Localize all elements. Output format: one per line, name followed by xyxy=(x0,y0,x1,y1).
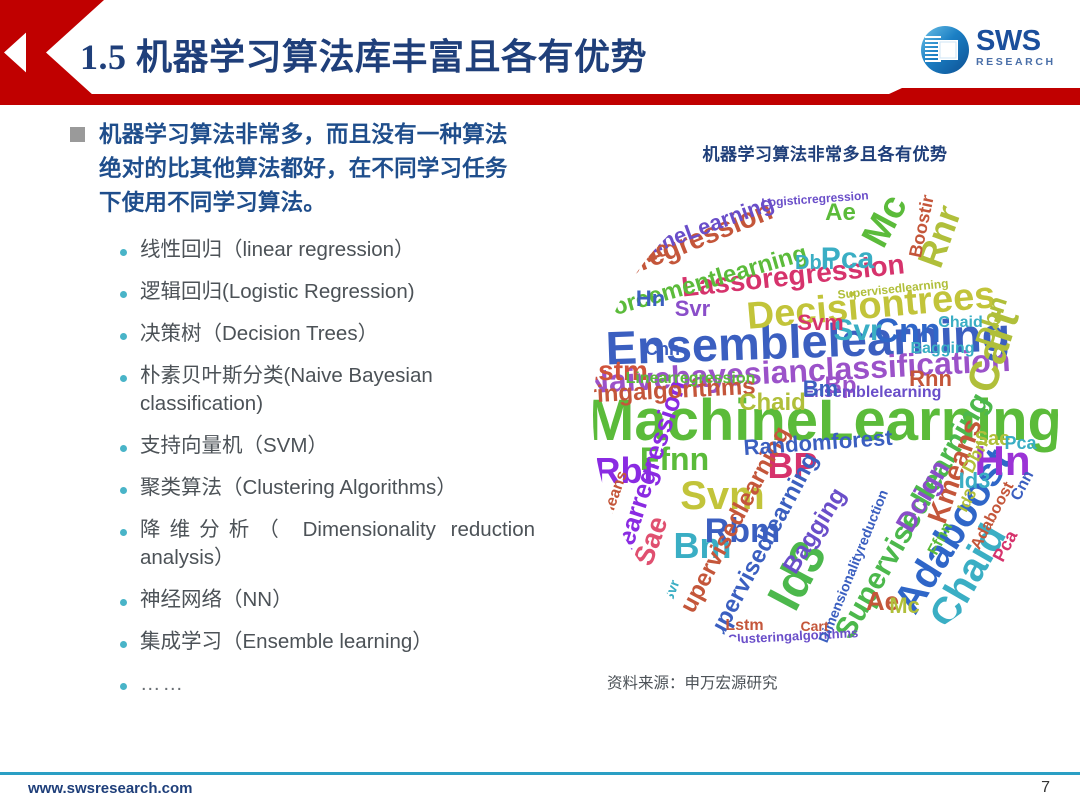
left-content-column: 机器学习算法非常多，而且没有一种算法绝对的比其他算法都好，在不同学习任务下使用不… xyxy=(70,118,570,712)
list-item: …… xyxy=(120,670,570,698)
list-item-label: 神经网络（NN） xyxy=(140,586,535,614)
wordcloud-word: Bagging xyxy=(911,341,975,357)
sws-circle-logo-icon xyxy=(920,25,970,75)
wordcloud-word: Hn xyxy=(636,288,665,310)
right-figure-column: 机器学习算法非常多且各有优势 MachineLearningEnsemblele… xyxy=(585,140,1065,693)
wordcloud-word: Svr xyxy=(675,298,710,320)
bullet-dot-icon xyxy=(120,683,127,690)
list-item: 聚类算法（Clustering Algorithms） xyxy=(120,474,570,502)
logo-wordmark: SWS RESEARCH xyxy=(976,26,1056,68)
bullet-dot-icon xyxy=(120,375,127,382)
list-item: 神经网络（NN） xyxy=(120,586,570,614)
page-number: 7 xyxy=(1041,779,1050,797)
wordcloud-word: Mc xyxy=(889,595,920,617)
list-item-label: 聚类算法（Clustering Algorithms） xyxy=(140,474,535,502)
bullet-dot-icon xyxy=(120,445,127,452)
figure-title: 机器学习算法非常多且各有优势 xyxy=(585,140,1065,165)
slide-header: 1.5 机器学习算法库丰富且各有优势 xyxy=(0,0,1080,108)
wordcloud-word: Lstm xyxy=(725,618,763,634)
lead-paragraph-row: 机器学习算法非常多，而且没有一种算法绝对的比其他算法都好，在不同学习任务下使用不… xyxy=(70,118,570,220)
wordcloud-word: Svm xyxy=(797,312,843,334)
list-item: 朴素贝叶斯分类(Naive Bayesian classification) xyxy=(120,362,570,418)
wordcloud-word: Cnn xyxy=(645,340,680,358)
wordcloud-word: Pca xyxy=(1004,434,1036,452)
header-red-bar xyxy=(64,88,1080,105)
list-item-label: 线性回归（linear regression） xyxy=(140,236,535,264)
bullet-dot-icon xyxy=(120,333,127,340)
list-item: 支持向量机（SVM） xyxy=(120,432,570,460)
wordcloud-word: Linearregression xyxy=(626,371,756,387)
wordcloud-canvas: MachineLearningEnsemblelearningNaivebaye… xyxy=(593,171,1058,659)
bullet-dot-icon xyxy=(120,487,127,494)
list-item-label: 降维分析（ Dimensionality reduction analysis） xyxy=(140,516,535,572)
bullet-dot-icon xyxy=(120,529,127,536)
wordcloud-word: Chaid xyxy=(938,315,982,331)
list-item-label: 朴素贝叶斯分类(Naive Bayesian classification) xyxy=(140,362,535,418)
page-title: 1.5 机器学习算法库丰富且各有优势 xyxy=(80,28,647,80)
logo-subtitle: RESEARCH xyxy=(976,56,1056,68)
list-item: 线性回归（linear regression） xyxy=(120,236,570,264)
square-bullet-icon xyxy=(70,127,85,142)
bullet-dot-icon xyxy=(120,249,127,256)
footer-divider xyxy=(0,772,1080,775)
list-item-label: 集成学习（Ensemble learning） xyxy=(140,628,535,656)
list-item-label: 逻辑回归(Logistic Regression) xyxy=(140,278,535,306)
bullet-dot-icon xyxy=(120,641,127,648)
wordcloud-word: Bm xyxy=(803,378,838,400)
list-item: 降维分析（ Dimensionality reduction analysis） xyxy=(120,516,570,572)
list-item-label: …… xyxy=(140,670,535,698)
list-item-label: 决策树（Decision Trees） xyxy=(140,320,535,348)
wordcloud-word: Cart xyxy=(800,619,828,633)
list-item: 集成学习（Ensemble learning） xyxy=(120,628,570,656)
wordcloud-figure: MachineLearningEnsemblelearningNaivebaye… xyxy=(593,171,1058,659)
footer-url: www.swsresearch.com xyxy=(28,780,193,797)
bullet-dot-icon xyxy=(120,599,127,606)
wordcloud-word: Chaid xyxy=(739,391,806,415)
sws-logo: SWS RESEARCH xyxy=(920,24,1068,78)
algorithm-bullet-list: 线性回归（linear regression）逻辑回归(Logistic Reg… xyxy=(70,236,570,698)
bullet-dot-icon xyxy=(120,291,127,298)
figure-source: 资料来源：申万宏源研究 xyxy=(607,671,1065,693)
list-item: 逻辑回归(Logistic Regression) xyxy=(120,278,570,306)
wordcloud-word: Dbn xyxy=(795,253,834,273)
wordcloud-word: Rnn xyxy=(909,368,952,390)
logo-name: SWS xyxy=(976,26,1056,56)
list-item-label: 支持向量机（SVM） xyxy=(140,432,535,460)
list-item: 决策树（Decision Trees） xyxy=(120,320,570,348)
lead-paragraph: 机器学习算法非常多，而且没有一种算法绝对的比其他算法都好，在不同学习任务下使用不… xyxy=(99,118,519,220)
